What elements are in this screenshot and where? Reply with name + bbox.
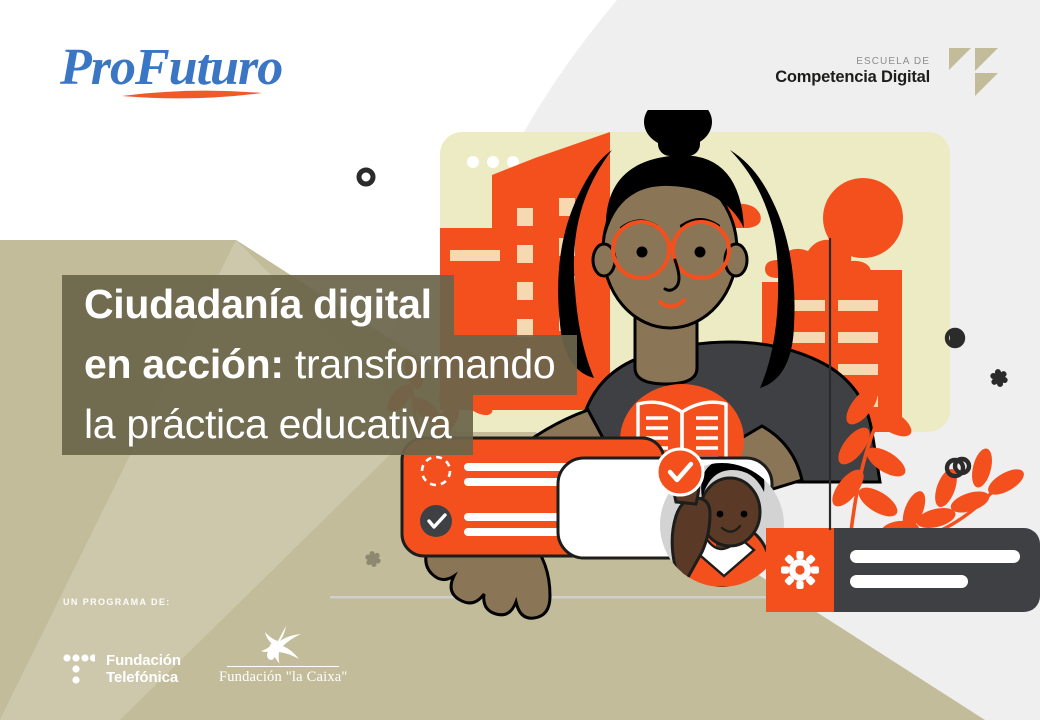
telefonica-line-2: Telefónica [106,669,181,686]
escuela-competencia-digital-lockup[interactable]: ESCUELA DE Competencia Digital [775,46,1000,98]
pinwheel-triangles-mark-icon [948,46,1000,98]
la-caixa-wordmark: Fundación "la Caixa" [219,669,348,686]
phone-card [558,449,784,588]
telefonica-line-1: Fundación [106,652,181,669]
profuturo-logo[interactable]: ProFuturo [58,36,288,106]
title-line-2: en acción: transformando [62,335,577,395]
svg-text:ProFuturo: ProFuturo [59,39,282,96]
title-line-2-bold: en acción: [84,341,284,387]
approved-badge [657,449,703,495]
title-line-3: la práctica educativa [62,395,473,455]
footer-credits: UN PROGRAMA DE: Fundación Telefónica [63,597,348,686]
edc-name: Competencia Digital [775,69,930,87]
la-caixa-star-icon [257,624,309,664]
edc-kicker: ESCUELA DE [775,57,930,68]
fundacion-la-caixa-logo[interactable]: Fundación "la Caixa" [219,624,348,686]
title-line-1: Ciudadanía digital [62,275,454,335]
footer-kicker: UN PROGRAMA DE: [63,597,348,607]
cover-page: ProFuturo ESCUELA DE Competencia Digital… [0,0,1040,720]
telefonica-dots-icon [63,652,95,686]
telefonica-wordmark: Fundación Telefónica [106,652,181,686]
la-caixa-rule [227,666,339,667]
profuturo-wordmark-icon: ProFuturo [58,36,288,106]
page-title: Ciudadanía digital en acción: transforma… [62,275,577,455]
edc-text-block: ESCUELA DE Competencia Digital [775,57,930,88]
title-line-2-rest: transformando [284,341,556,387]
footer-logo-row: Fundación Telefónica Fundación "la Caixa… [63,624,348,686]
settings-bar [766,528,1040,612]
gear-icon [781,551,819,589]
fundacion-telefonica-logo[interactable]: Fundación Telefónica [63,652,181,686]
